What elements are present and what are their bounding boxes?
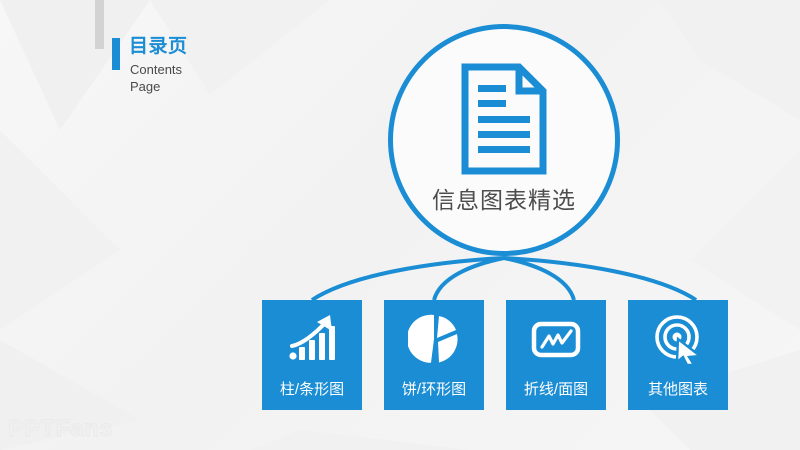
center-node[interactable]: 信息图表精选 — [388, 24, 620, 256]
category-box-list: 柱/条形图 饼/环形图 折线/面图 其他图表 — [262, 300, 728, 410]
bar-chart-growth-arrow-icon — [286, 313, 338, 365]
watermark-logo: PPTFans — [8, 415, 113, 442]
category-box-label: 折线/面图 — [506, 378, 606, 399]
category-box-line-chart[interactable]: 折线/面图 — [506, 300, 606, 410]
category-box-other-charts[interactable]: 其他图表 — [628, 300, 728, 410]
pie-chart-icon — [408, 313, 460, 365]
category-box-bar-chart[interactable]: 柱/条形图 — [262, 300, 362, 410]
target-cursor-icon — [652, 313, 704, 365]
category-box-pie-chart[interactable]: 饼/环形图 — [384, 300, 484, 410]
category-box-label: 饼/环形图 — [384, 378, 484, 399]
center-node-label: 信息图表精选 — [393, 181, 615, 215]
category-box-label: 其他图表 — [628, 378, 728, 399]
document-lines-icon — [461, 63, 547, 175]
slide-canvas: 目录页 Contents Page 信息图表精选 — [0, 0, 800, 450]
line-chart-frame-icon — [530, 313, 582, 365]
category-box-label: 柱/条形图 — [262, 378, 362, 399]
